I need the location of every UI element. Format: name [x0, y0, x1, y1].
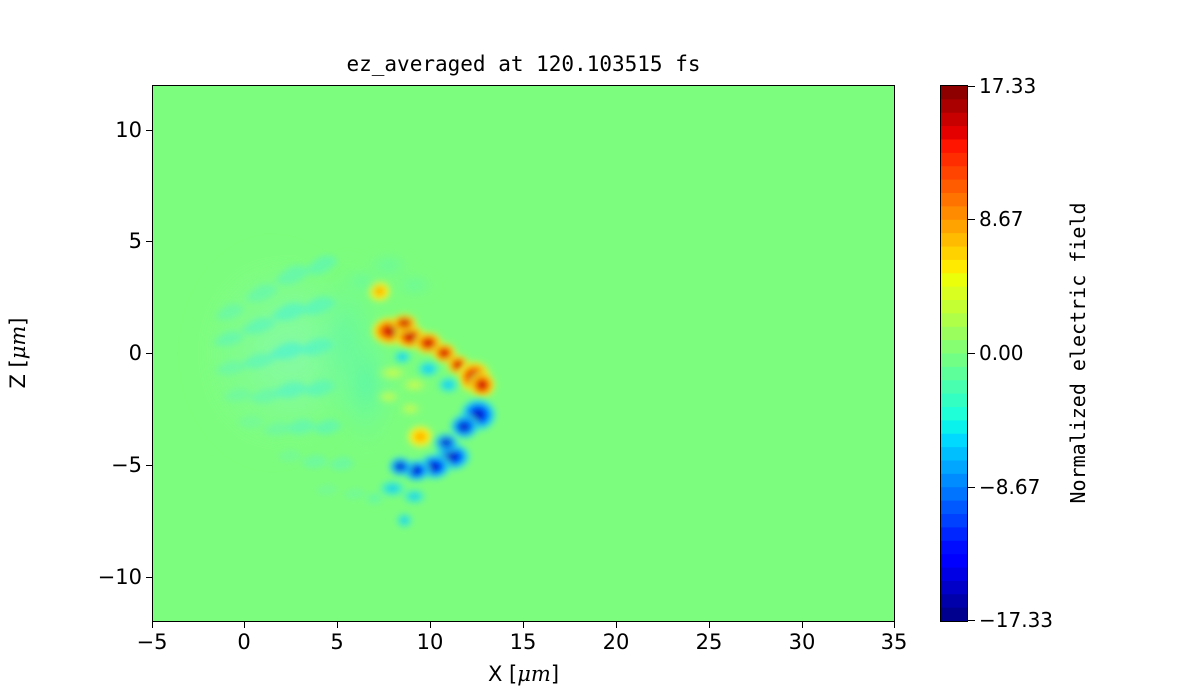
x-tick-label-5: 20 — [603, 630, 630, 654]
colorbar-tick-label-4: −17.33 — [979, 608, 1053, 632]
y-axis-label-unit: μm — [6, 326, 30, 360]
x-tick-label-3: 10 — [417, 630, 444, 654]
y-tick-label-2: 0 — [129, 341, 142, 365]
colorbar-tick-1 — [968, 219, 975, 220]
x-axis-label-close: ] — [551, 662, 559, 686]
x-axis-label-text: X [ — [488, 662, 517, 686]
x-tick-label-0: −5 — [137, 630, 168, 654]
x-tick-3 — [430, 622, 431, 628]
x-tick-label-6: 25 — [696, 630, 723, 654]
colorbar-tick-label-3: −8.67 — [979, 475, 1040, 499]
y-tick-1 — [146, 241, 152, 242]
x-tick-7 — [802, 622, 803, 628]
x-tick-5 — [616, 622, 617, 628]
colorbar-tick-4 — [968, 620, 975, 621]
y-tick-0 — [146, 130, 152, 131]
y-axis-label-text: Z [ — [6, 359, 30, 388]
y-tick-label-4: −10 — [98, 565, 142, 589]
colorbar-tick-label-2: 0.00 — [979, 341, 1024, 365]
colorbar-label: Normalized electric field — [1066, 202, 1090, 503]
x-tick-label-7: 30 — [789, 630, 816, 654]
y-tick-4 — [146, 577, 152, 578]
colorbar-tick-label-1: 8.67 — [979, 207, 1024, 231]
x-axis-label-unit: μm — [517, 662, 551, 686]
colorbar-tick-3 — [968, 487, 975, 488]
x-tick-1 — [244, 622, 245, 628]
x-tick-4 — [523, 622, 524, 628]
colorbar-gradient — [941, 86, 967, 621]
colorbar-tick-0 — [968, 86, 975, 87]
y-tick-label-3: −5 — [111, 453, 142, 477]
x-tick-2 — [337, 622, 338, 628]
colorbar-tick-label-0: 17.33 — [979, 74, 1036, 98]
y-axis-label: Z [μm] — [6, 317, 30, 388]
y-axis-label-close: ] — [6, 317, 30, 325]
heatmap-axes — [152, 85, 895, 622]
y-tick-3 — [146, 465, 152, 466]
x-tick-label-8: 35 — [881, 630, 908, 654]
y-tick-2 — [146, 353, 152, 354]
field-heatmap-image — [153, 86, 894, 621]
y-tick-label-0: 10 — [115, 118, 142, 142]
x-tick-6 — [709, 622, 710, 628]
x-tick-8 — [894, 622, 895, 628]
x-tick-0 — [152, 622, 153, 628]
x-tick-label-1: 0 — [237, 630, 250, 654]
x-tick-label-4: 15 — [510, 630, 537, 654]
colorbar-tick-2 — [968, 353, 975, 354]
colorbar — [940, 85, 968, 622]
y-tick-label-1: 5 — [129, 229, 142, 253]
figure-canvas: ez_averaged at 120.103515 fs — [0, 0, 1200, 700]
page-title: ez_averaged at 120.103515 fs — [152, 52, 895, 76]
x-axis-label: X [μm] — [152, 662, 895, 686]
x-tick-label-2: 5 — [330, 630, 343, 654]
